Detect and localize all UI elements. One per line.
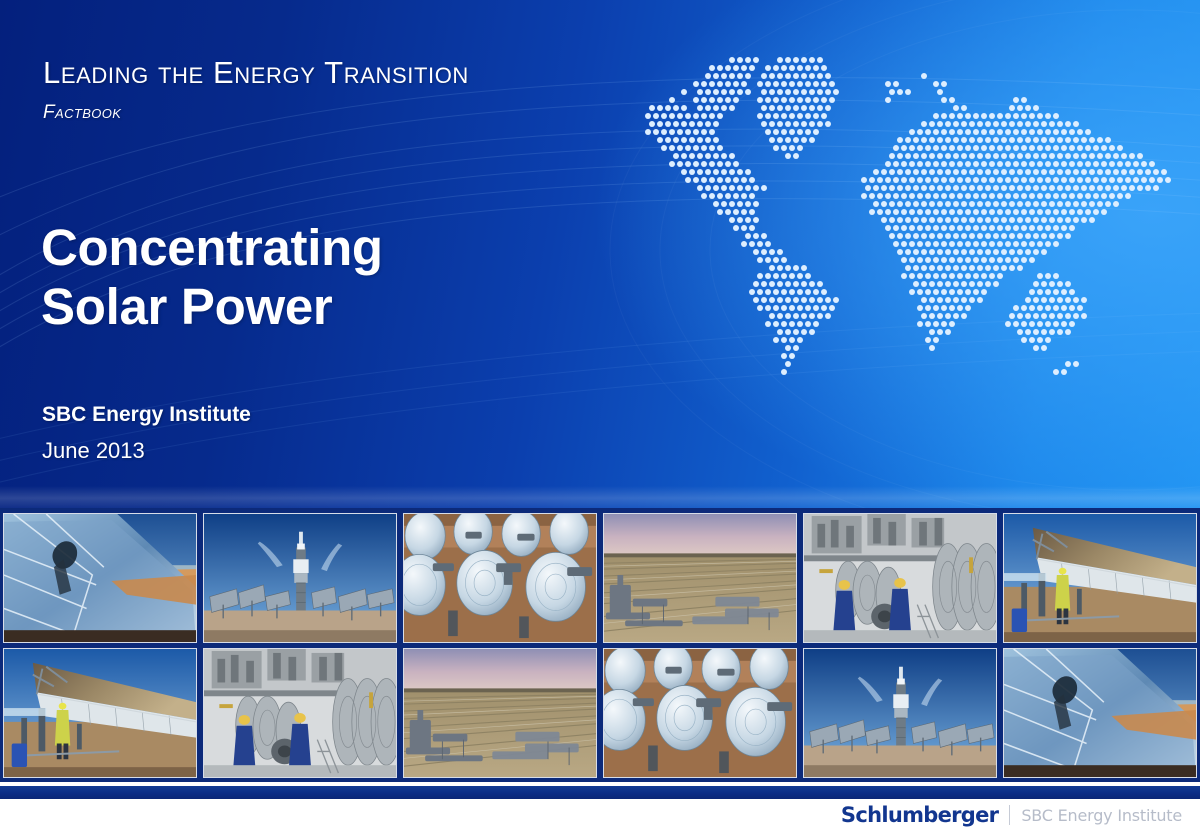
sbc-energy-institute-wordmark: SBC Energy Institute xyxy=(1021,806,1182,825)
cover-slide: Leading the Energy Transition Factbook C… xyxy=(0,0,1200,831)
page-kicker-sub: Factbook xyxy=(43,102,121,124)
photo-trough-collector-maintenance xyxy=(1003,513,1197,643)
photo-trough-field-aerial-view xyxy=(603,513,797,643)
hero-bottom-highlight xyxy=(0,486,1200,508)
schlumberger-wordmark: Schlumberger xyxy=(841,803,998,827)
logo-divider xyxy=(1009,805,1010,825)
publication-date: June 2013 xyxy=(42,438,145,464)
photo-trough-field-aerial-view xyxy=(403,648,597,778)
brand-logo: Schlumberger SBC Energy Institute xyxy=(841,803,1182,827)
page-title-line-1: Concentrating xyxy=(41,218,383,277)
photo-trough-collector-maintenance xyxy=(3,648,197,778)
photo-parabolic-trough-mirror-reflection xyxy=(3,513,197,643)
page-title: Concentrating Solar Power xyxy=(41,218,383,336)
footer: Schlumberger SBC Energy Institute xyxy=(0,799,1200,831)
photo-solar-power-tower xyxy=(203,513,397,643)
page-title-line-2: Solar Power xyxy=(41,277,383,336)
photo-solar-power-tower xyxy=(803,648,997,778)
world-map-dots-icon xyxy=(636,48,1188,400)
photo-row-top xyxy=(0,513,1200,643)
page-kicker: Leading the Energy Transition xyxy=(43,56,469,90)
photo-parabolic-trough-mirror-reflection xyxy=(1003,648,1197,778)
organization-label: SBC Energy Institute xyxy=(42,403,251,427)
photo-strip xyxy=(0,508,1200,782)
photo-parabolic-dish-collectors xyxy=(603,648,797,778)
photo-steam-turbine-assembly xyxy=(203,648,397,778)
photo-row-bottom xyxy=(0,648,1200,778)
footer-accent-bar xyxy=(0,786,1200,799)
photo-steam-turbine-assembly xyxy=(803,513,997,643)
photo-parabolic-dish-collectors xyxy=(403,513,597,643)
hero-panel: Leading the Energy Transition Factbook C… xyxy=(0,0,1200,508)
